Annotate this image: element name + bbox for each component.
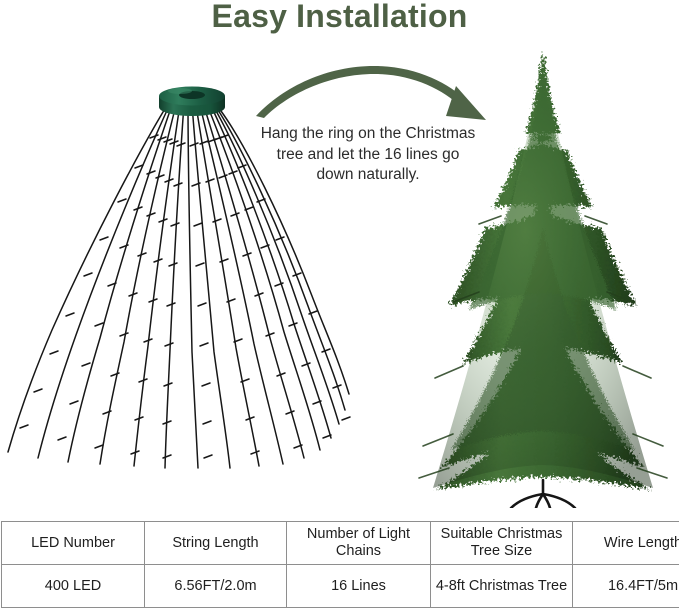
table-header-string-length: String Length bbox=[145, 522, 287, 565]
table-header-suitable-tree-size: Suitable Christmas Tree Size bbox=[431, 522, 573, 565]
table-row: 400 LED 6.56FT/2.0m 16 Lines 4-8ft Chris… bbox=[2, 565, 679, 608]
header-line: Chains bbox=[336, 543, 381, 559]
header-line: String Length bbox=[172, 535, 258, 551]
page-title: Easy Installation bbox=[0, 0, 679, 35]
table-header-row: LED Number String Length Number of Light… bbox=[2, 522, 679, 565]
table-header-wire-length: Wire Length bbox=[573, 522, 679, 565]
table-cell-string-length: 6.56FT/2.0m bbox=[145, 565, 287, 608]
christmas-tree-image bbox=[405, 48, 679, 508]
header-line: LED Number bbox=[31, 535, 115, 551]
ring-hanger-icon bbox=[159, 87, 225, 117]
table-header-led-number: LED Number bbox=[2, 522, 145, 565]
spec-table: LED Number String Length Number of Light… bbox=[1, 521, 679, 608]
tree-stand-icon bbox=[511, 480, 575, 508]
header-line: Tree Size bbox=[471, 543, 533, 559]
header-line: Suitable Christmas bbox=[441, 526, 563, 542]
header-line: Wire Length bbox=[604, 535, 679, 551]
table-cell-wire-length: 16.4FT/5m bbox=[573, 565, 679, 608]
table-cell-suitable-tree-size: 4-8ft Christmas Tree bbox=[431, 565, 573, 608]
header-line: Number of Light bbox=[307, 526, 410, 542]
table-cell-number-of-light-chains: 16 Lines bbox=[287, 565, 431, 608]
table-header-number-of-light-chains: Number of Light Chains bbox=[287, 522, 431, 565]
table-cell-led-number: 400 LED bbox=[2, 565, 145, 608]
